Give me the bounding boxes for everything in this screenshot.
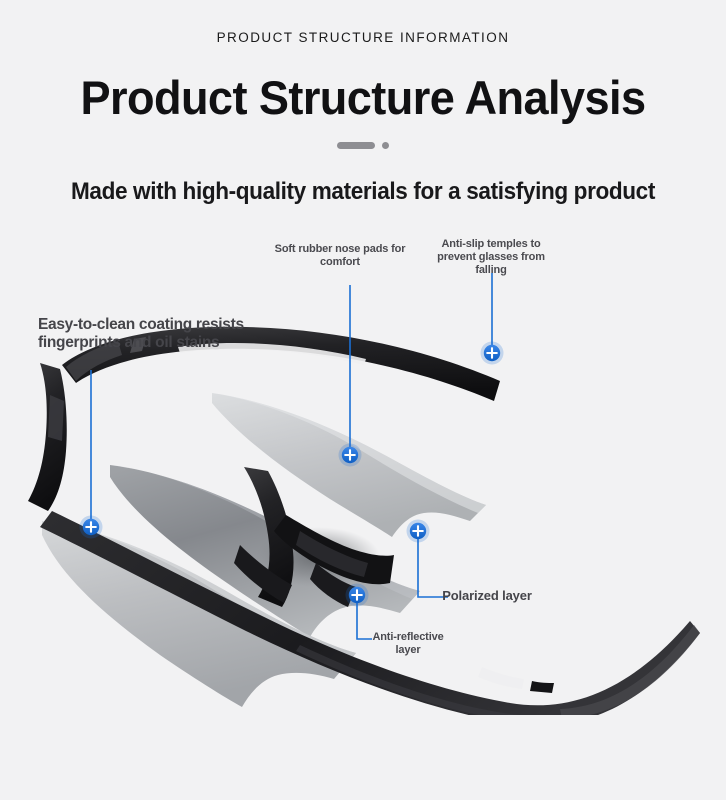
page-subtitle: Made with high-quality materials for a s… xyxy=(22,178,704,206)
page-title: Product Structure Analysis xyxy=(15,70,712,126)
divider-dot xyxy=(382,142,389,149)
marker-easy-to-clean-coating[interactable] xyxy=(80,516,103,539)
divider-bar xyxy=(337,142,375,149)
marker-nose-pads[interactable] xyxy=(339,444,362,467)
callout-polarized-layer: Polarized layer xyxy=(442,588,532,604)
callout-nose-pads: Soft rubber nose pads for comfort xyxy=(272,243,408,269)
callout-anti-reflective-layer: Anti-reflective layer xyxy=(362,631,454,657)
eyebrow-label: PRODUCT STRUCTURE INFORMATION xyxy=(0,30,726,45)
divider-indicator xyxy=(0,142,726,149)
marker-anti-slip-temples[interactable] xyxy=(481,342,504,365)
callout-anti-slip-temples: Anti-slip temples to prevent glasses fro… xyxy=(437,238,545,277)
marker-polarized-layer[interactable] xyxy=(407,520,430,543)
marker-anti-reflective-layer[interactable] xyxy=(346,584,369,607)
product-infographic-page: PRODUCT STRUCTURE INFORMATION Product St… xyxy=(0,0,726,800)
callout-easy-to-clean-coating: Easy-to-clean coating resists fingerprin… xyxy=(38,316,278,352)
